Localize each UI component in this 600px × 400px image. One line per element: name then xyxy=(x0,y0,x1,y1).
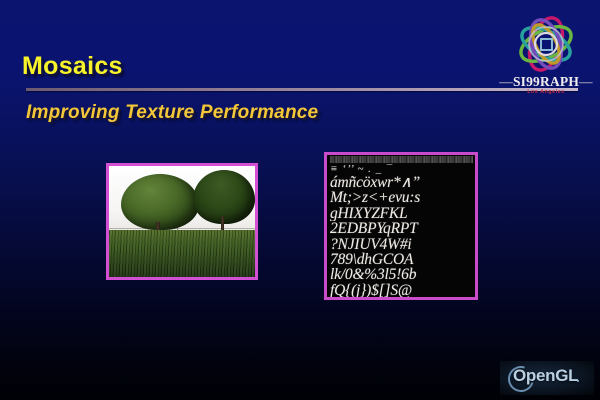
opengl-logo-dot xyxy=(577,380,579,382)
glyph-row: gHIXYZFKL xyxy=(330,206,473,221)
glyph-row: Mt;>z<+evu:s xyxy=(330,190,473,205)
glyph-row: 2EDBPYqRPT xyxy=(330,221,473,236)
glyph-row: ámñcöxwr*∧” xyxy=(330,175,473,190)
glyph-row: ?NJIUV4W#i xyxy=(330,237,473,252)
opengl-logo: OpenGL xyxy=(500,361,594,395)
grass-field-region xyxy=(109,230,255,277)
glyph-row: fQ{(j})$[]S@ xyxy=(330,283,473,298)
siggraph-logo: —SI99RAPH— Los Angeles xyxy=(498,12,594,104)
glyph-texture-panel: ≡ ‘’’ ~ . _ ¯ ámñcöxwr*∧” Mt;>z<+evu:… xyxy=(324,152,478,300)
horizon-line xyxy=(109,228,255,229)
tree-canopy-left xyxy=(121,174,199,230)
page-title: Mosaics xyxy=(22,52,123,81)
title-divider xyxy=(26,88,578,91)
siggraph-city-label: Los Angeles xyxy=(498,89,594,95)
siggraph-wordmark-text: SI99RAPH xyxy=(513,74,579,89)
slide-subtitle: Improving Texture Performance xyxy=(26,102,318,124)
glyph-panel-content: ≡ ‘’’ ~ . _ ¯ ámñcöxwr*∧” Mt;>z<+evu:… xyxy=(327,155,475,297)
tree-photo xyxy=(106,163,258,280)
tree-canopy-right xyxy=(193,170,255,224)
tree-photo-content xyxy=(109,166,255,277)
siggraph-wordmark: —SI99RAPH— xyxy=(498,74,594,90)
slide-canvas: Mosaics Improving Texture Performance —S… xyxy=(0,0,600,400)
glyph-row: lk/0&%3l5!6b xyxy=(330,267,473,282)
opengl-logo-text: OpenGL xyxy=(513,366,578,386)
glyph-row: ≡ ‘’’ ~ . _ ¯ xyxy=(330,164,473,175)
glyph-row: 789\dhGCOA xyxy=(330,252,473,267)
siggraph-rings-icon xyxy=(504,12,588,76)
glyph-top-noise-strip xyxy=(330,156,473,163)
